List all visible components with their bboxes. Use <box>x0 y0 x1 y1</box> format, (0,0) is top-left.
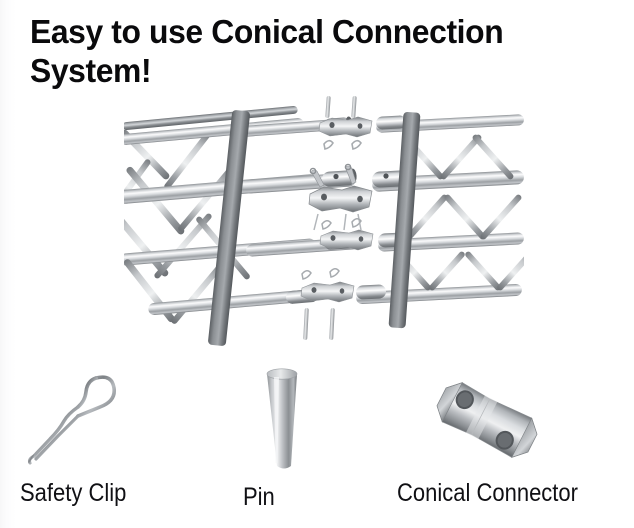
truss-illustration <box>124 96 524 358</box>
pin-figure <box>232 362 336 474</box>
conical-connector-label: Conical Connector <box>397 479 578 508</box>
braces-lowest <box>124 258 224 325</box>
pin-label: Pin <box>243 483 275 512</box>
page-title: Easy to use Conical Connection System! <box>30 12 630 90</box>
page-title-line-1: Easy to use Conical Connection <box>30 12 609 51</box>
truss-right-section <box>356 112 524 329</box>
conical-connector-top <box>319 117 372 137</box>
hardware-group-lower <box>320 219 373 250</box>
vertical-corner-post <box>208 110 251 347</box>
safety-clip-label: Safety Clip <box>20 479 126 508</box>
hardware-group-bottom <box>301 269 354 340</box>
chord-bottom-outer <box>148 286 320 315</box>
conical-connector-figure <box>428 372 546 468</box>
page-title-line-2: System! <box>30 51 609 90</box>
tapered-pin-icon <box>232 362 336 474</box>
page-root: Easy to use Conical Connection System! <box>0 0 634 528</box>
truss-svg <box>124 96 524 358</box>
hardware-group-top <box>319 96 372 149</box>
r-clip-icon <box>20 360 152 472</box>
double-cone-connector-icon <box>428 372 546 468</box>
braces-right-lower <box>394 250 524 291</box>
safety-clip-figure <box>20 360 152 472</box>
